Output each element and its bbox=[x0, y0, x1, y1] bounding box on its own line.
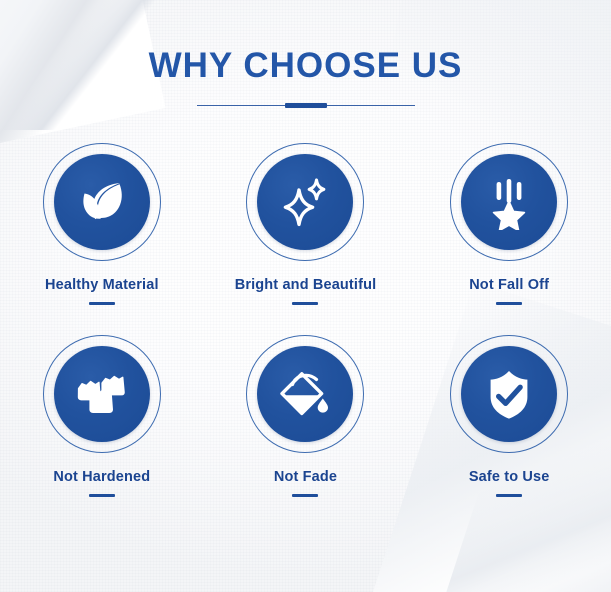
why-choose-us-poster: WHY CHOOSE US bbox=[0, 0, 611, 592]
leaf-icon bbox=[74, 174, 130, 230]
feature-item-not-fade: Not Fade bbox=[204, 335, 408, 497]
title-divider-accent bbox=[285, 103, 327, 108]
feature-label: Not Fade bbox=[274, 469, 337, 485]
icon-badge bbox=[246, 143, 364, 261]
sparkle-icon bbox=[277, 174, 333, 230]
feature-label: Not Hardened bbox=[53, 469, 150, 485]
icon-badge bbox=[43, 143, 161, 261]
feature-item-not-fall-off: Not Fall Off bbox=[407, 143, 611, 305]
feature-label-underline bbox=[496, 494, 522, 497]
feature-label: Safe to Use bbox=[469, 469, 550, 485]
features-grid: Healthy Material Bright and Bea bbox=[0, 143, 611, 497]
icon-disc bbox=[54, 346, 150, 442]
feature-item-safe-to-use: Safe to Use bbox=[407, 335, 611, 497]
feature-label-underline bbox=[89, 494, 115, 497]
title-divider bbox=[197, 102, 415, 109]
feature-label-underline bbox=[496, 302, 522, 305]
heading-section: WHY CHOOSE US bbox=[0, 44, 611, 109]
feature-label-underline bbox=[89, 302, 115, 305]
icon-disc bbox=[257, 154, 353, 250]
paint-bucket-icon bbox=[277, 366, 333, 422]
feature-item-healthy-material: Healthy Material bbox=[0, 143, 204, 305]
icon-disc bbox=[54, 154, 150, 250]
icon-badge bbox=[43, 335, 161, 453]
feature-label: Bright and Beautiful bbox=[235, 277, 377, 293]
feature-label-underline bbox=[292, 494, 318, 497]
falling-star-icon bbox=[481, 174, 537, 230]
feature-item-bright-and-beautiful: Bright and Beautiful bbox=[204, 143, 408, 305]
feature-label-underline bbox=[292, 302, 318, 305]
shield-check-icon bbox=[481, 366, 537, 422]
icon-disc bbox=[257, 346, 353, 442]
feature-label: Healthy Material bbox=[45, 277, 159, 293]
feature-item-not-hardened: Not Hardened bbox=[0, 335, 204, 497]
icon-badge bbox=[246, 335, 364, 453]
feature-label: Not Fall Off bbox=[469, 277, 549, 293]
icon-badge bbox=[450, 335, 568, 453]
rocks-icon bbox=[74, 366, 130, 422]
icon-disc bbox=[461, 154, 557, 250]
icon-badge bbox=[450, 143, 568, 261]
page-title: WHY CHOOSE US bbox=[0, 44, 611, 88]
icon-disc bbox=[461, 346, 557, 442]
